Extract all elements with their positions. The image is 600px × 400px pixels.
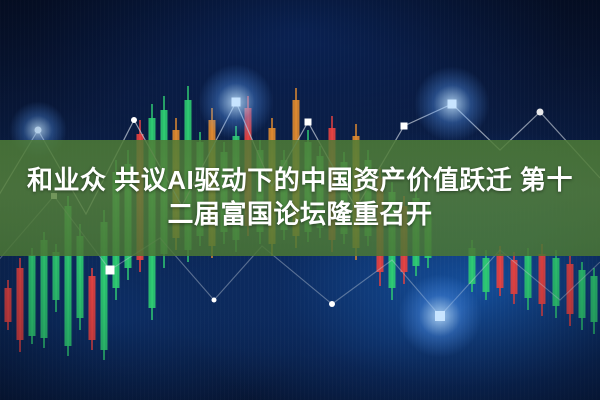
- headline-line-2: 二届富国论坛隆重召开: [167, 199, 432, 231]
- banner-image: 和业众 共议AI驱动下的中国资产价值跃迁 第十 二届富国论坛隆重召开: [0, 0, 600, 400]
- headline-text-container: 和业众 共议AI驱动下的中国资产价值跃迁 第十 二届富国论坛隆重召开: [0, 140, 600, 256]
- headline-line-1: 和业众 共议AI驱动下的中国资产价值跃迁 第十: [27, 165, 573, 197]
